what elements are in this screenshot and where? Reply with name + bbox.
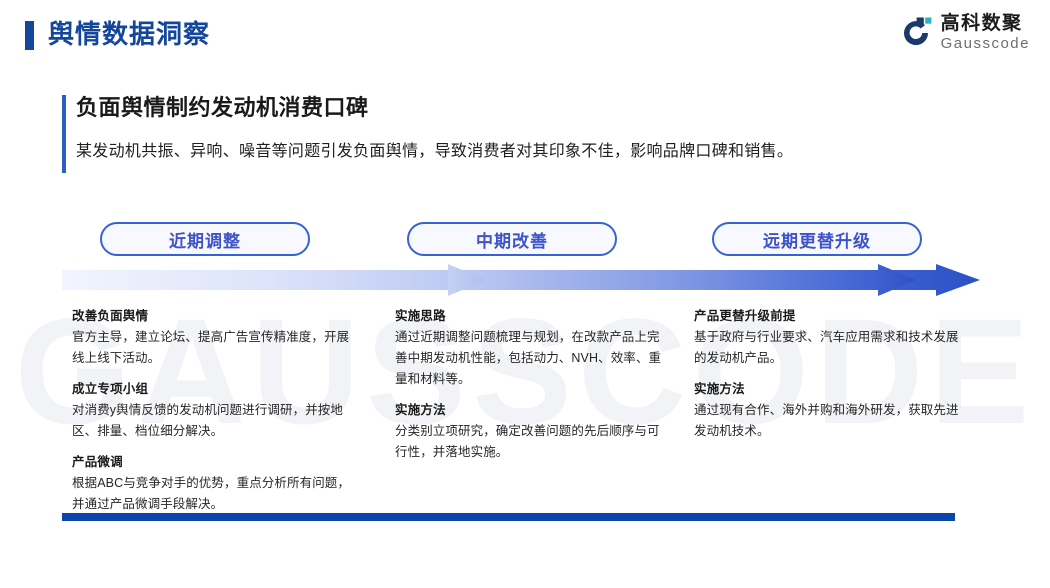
brand-logo: 高科数聚 Gausscode bbox=[898, 14, 1030, 51]
column-long-term: 产品更替升级前提 基于政府与行业要求、汽车应用需求和技术发展的发动机产品。 实施… bbox=[694, 306, 964, 442]
footer-accent-bar bbox=[62, 513, 955, 521]
block-heading: 实施方法 bbox=[694, 379, 964, 399]
column-near-term: 改善负面舆情 官方主导，建立论坛、提高广告宣传精准度，开展线上线下活动。 成立专… bbox=[72, 306, 357, 515]
slide-header: 舆情数据洞察 高科数聚 Gausscode bbox=[0, 0, 1050, 70]
content-block: 实施思路 通过近期调整问题梳理与规划，在改款产品上完善中期发动机性能，包括动力、… bbox=[395, 306, 665, 390]
block-body: 分类别立项研究，确定改善问题的先后顺序与可行性，并落地实施。 bbox=[395, 421, 665, 463]
page-title: 舆情数据洞察 bbox=[48, 17, 210, 51]
slide-root: GAUSSCODE 舆情数据洞察 高科数聚 Gausscode 负面舆情制约发动… bbox=[0, 0, 1050, 588]
column-mid-term: 实施思路 通过近期调整问题梳理与规划，在改款产品上完善中期发动机性能，包括动力、… bbox=[395, 306, 665, 463]
lead-section: 负面舆情制约发动机消费口碑 某发动机共振、异响、噪音等问题引发负面舆情，导致消费… bbox=[62, 92, 962, 165]
block-heading: 实施思路 bbox=[395, 306, 665, 326]
content-block: 实施方法 通过现有合作、海外并购和海外研发，获取先进发动机技术。 bbox=[694, 379, 964, 442]
stage-pill-group: 近期调整 中期改善 远期更替升级 bbox=[0, 222, 1050, 258]
lead-accent-bar bbox=[62, 95, 66, 173]
block-body: 通过现有合作、海外并购和海外研发，获取先进发动机技术。 bbox=[694, 400, 964, 442]
content-block: 实施方法 分类别立项研究，确定改善问题的先后顺序与可行性，并落地实施。 bbox=[395, 400, 665, 463]
stage-pill-near-term[interactable]: 近期调整 bbox=[100, 222, 310, 256]
block-body: 根据ABC与竞争对手的优势，重点分析所有问题，并通过产品微调手段解决。 bbox=[72, 473, 357, 515]
content-block: 成立专项小组 对消费y舆情反馈的发动机问题进行调研，并按地区、排量、档位细分解决… bbox=[72, 379, 357, 442]
block-body: 基于政府与行业要求、汽车应用需求和技术发展的发动机产品。 bbox=[694, 327, 964, 369]
gausscode-logo-icon bbox=[898, 16, 932, 50]
content-block: 产品微调 根据ABC与竞争对手的优势，重点分析所有问题，并通过产品微调手段解决。 bbox=[72, 452, 357, 515]
block-body: 官方主导，建立论坛、提高广告宣传精准度，开展线上线下活动。 bbox=[72, 327, 357, 369]
lead-heading: 负面舆情制约发动机消费口碑 bbox=[76, 92, 962, 124]
logo-text-en: Gausscode bbox=[941, 36, 1030, 51]
block-heading: 实施方法 bbox=[395, 400, 665, 420]
content-block: 改善负面舆情 官方主导，建立论坛、提高广告宣传精准度，开展线上线下活动。 bbox=[72, 306, 357, 369]
stage-pill-mid-term[interactable]: 中期改善 bbox=[407, 222, 617, 256]
block-heading: 产品更替升级前提 bbox=[694, 306, 964, 326]
block-heading: 成立专项小组 bbox=[72, 379, 357, 399]
block-body: 通过近期调整问题梳理与规划，在改款产品上完善中期发动机性能，包括动力、NVH、效… bbox=[395, 327, 665, 390]
content-block: 产品更替升级前提 基于政府与行业要求、汽车应用需求和技术发展的发动机产品。 bbox=[694, 306, 964, 369]
lead-paragraph: 某发动机共振、异响、噪音等问题引发负面舆情，导致消费者对其印象不佳，影响品牌口碑… bbox=[76, 139, 962, 165]
block-heading: 改善负面舆情 bbox=[72, 306, 357, 326]
logo-text-cn: 高科数聚 bbox=[941, 14, 1030, 33]
timeline-arrow bbox=[62, 264, 980, 296]
header-accent-bar bbox=[25, 21, 34, 50]
block-heading: 产品微调 bbox=[72, 452, 357, 472]
block-body: 对消费y舆情反馈的发动机问题进行调研，并按地区、排量、档位细分解决。 bbox=[72, 400, 357, 442]
stage-pill-long-term[interactable]: 远期更替升级 bbox=[712, 222, 922, 256]
